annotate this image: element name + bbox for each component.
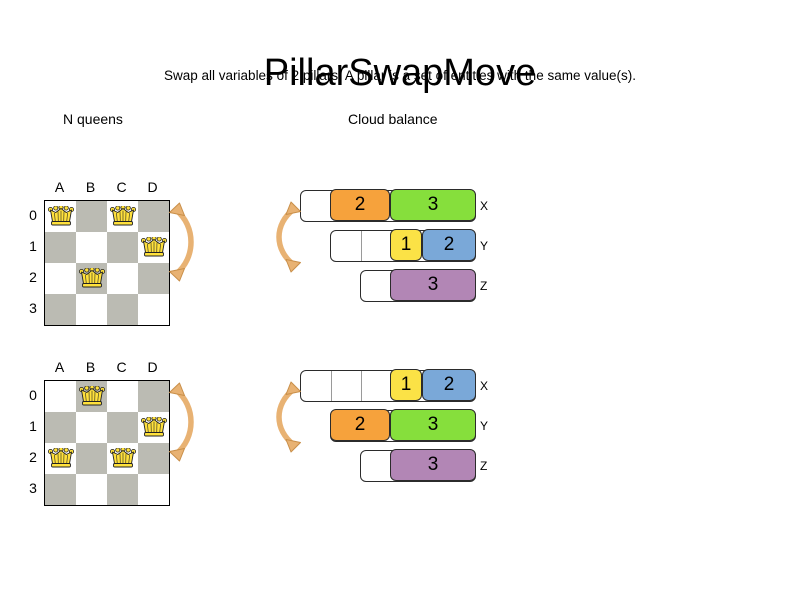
cloud-process-value: 3 [428, 275, 439, 294]
chess-board-grid [44, 380, 170, 506]
cloud-process-segment[interactable]: 1 [390, 369, 422, 401]
row-header-1: 1 [24, 231, 42, 262]
board-cell-A2[interactable] [45, 263, 76, 294]
cloud-process-segment[interactable]: 1 [390, 229, 422, 261]
board-cell-A1[interactable] [45, 232, 76, 263]
row-header-0: 0 [24, 380, 42, 411]
board-cell-C1[interactable] [107, 412, 138, 443]
cloud-process-segment[interactable]: 2 [330, 189, 390, 221]
cloud-bar-divider [361, 371, 362, 401]
cloud-process-segment[interactable]: 3 [390, 189, 476, 221]
cloud-process-value: 1 [401, 375, 412, 394]
row-header-1: 1 [24, 411, 42, 442]
queen-icon [79, 268, 105, 290]
board-cell-C1[interactable] [107, 232, 138, 263]
queen-icon [48, 206, 74, 228]
queen-icon [110, 206, 136, 228]
cloud-process-segment[interactable]: 3 [390, 409, 476, 441]
column-header-a: A [44, 358, 75, 376]
column-header-b: B [75, 358, 106, 376]
board-cell-B2[interactable] [76, 443, 107, 474]
cloud-bar-divider [331, 371, 332, 401]
column-header-c: C [106, 178, 137, 196]
swap-arrow-board-before [166, 196, 202, 288]
column-header-d: D [137, 178, 168, 196]
row-header-0: 0 [24, 200, 42, 231]
queen-icon [110, 448, 136, 470]
board-column-headers: ABCD [44, 178, 168, 198]
board-cell-A2[interactable] [45, 443, 76, 474]
cloud-computer-label-x: X [480, 377, 500, 395]
board-cell-D2[interactable] [138, 443, 169, 474]
cloud-computer-label-z: Z [480, 277, 500, 295]
queen-icon [79, 386, 105, 408]
column-header-b: B [75, 178, 106, 196]
cloud-bar-row-y: 12Y [276, 230, 506, 262]
cloud-process-value: 2 [355, 195, 366, 214]
cloud-process-segment[interactable]: 2 [422, 229, 476, 261]
queen-icon [48, 448, 74, 470]
section-heading-nqueens: N queens [63, 110, 123, 128]
row-header-2: 2 [24, 442, 42, 473]
board-row-headers: 0123 [24, 380, 42, 504]
board-cell-B1[interactable] [76, 412, 107, 443]
cloud-process-value: 3 [428, 195, 439, 214]
cloud-computer-label-y: Y [480, 237, 500, 255]
swap-arrow-cloud-after [268, 376, 304, 456]
cloud-computer-label-x: X [480, 197, 500, 215]
cloud-process-value: 3 [428, 415, 439, 434]
swap-arrow-board-after [166, 376, 202, 468]
chess-board-grid [44, 200, 170, 326]
board-cell-D1[interactable] [138, 412, 169, 443]
queen-icon [141, 237, 167, 259]
column-header-c: C [106, 358, 137, 376]
board-column-headers: ABCD [44, 358, 168, 378]
board-cell-D2[interactable] [138, 263, 169, 294]
board-cell-A1[interactable] [45, 412, 76, 443]
board-cell-D1[interactable] [138, 232, 169, 263]
board-cell-A3[interactable] [45, 474, 76, 505]
cloud-process-value: 3 [428, 455, 439, 474]
cloud-computer-label-z: Z [480, 457, 500, 475]
board-cell-C3[interactable] [107, 474, 138, 505]
board-cell-A0[interactable] [45, 381, 76, 412]
cloud-bar-row-y: 23Y [276, 410, 506, 442]
board-cell-B1[interactable] [76, 232, 107, 263]
page-subtitle: Swap all variables of 2 pillars. A pilla… [0, 68, 800, 84]
board-cell-C3[interactable] [107, 294, 138, 325]
board-row-headers: 0123 [24, 200, 42, 324]
cloud-bar-row-z: 3Z [276, 450, 506, 482]
board-cell-C2[interactable] [107, 263, 138, 294]
cloud-bar-row-z: 3Z [276, 270, 506, 302]
board-cell-B2[interactable] [76, 263, 107, 294]
board-cell-D3[interactable] [138, 294, 169, 325]
board-cell-B3[interactable] [76, 474, 107, 505]
cloud-process-value: 2 [444, 375, 455, 394]
cloud-process-segment[interactable]: 2 [330, 409, 390, 441]
row-header-3: 3 [24, 473, 42, 504]
board-cell-B3[interactable] [76, 294, 107, 325]
column-header-a: A [44, 178, 75, 196]
board-cell-C2[interactable] [107, 443, 138, 474]
queen-icon [141, 417, 167, 439]
column-header-d: D [137, 358, 168, 376]
board-cell-D0[interactable] [138, 381, 169, 412]
cloud-bar-row-x: 12X [276, 370, 506, 402]
board-cell-D3[interactable] [138, 474, 169, 505]
cloud-process-segment[interactable]: 3 [390, 449, 476, 481]
board-cell-A3[interactable] [45, 294, 76, 325]
board-cell-A0[interactable] [45, 201, 76, 232]
section-heading-cloud: Cloud balance [348, 110, 438, 128]
cloud-process-segment[interactable]: 3 [390, 269, 476, 301]
cloud-bar-row-x: 23X [276, 190, 506, 222]
board-cell-B0[interactable] [76, 381, 107, 412]
cloud-process-value: 2 [355, 415, 366, 434]
cloud-process-segment[interactable]: 2 [422, 369, 476, 401]
cloud-process-value: 2 [444, 235, 455, 254]
cloud-bar-divider [361, 231, 362, 261]
board-cell-C0[interactable] [107, 381, 138, 412]
swap-arrow-cloud-before [268, 196, 304, 276]
row-header-3: 3 [24, 293, 42, 324]
cloud-process-value: 1 [401, 235, 412, 254]
board-cell-C0[interactable] [107, 201, 138, 232]
board-cell-B0[interactable] [76, 201, 107, 232]
diagram-canvas: PillarSwapMove Swap all variables of 2 p… [0, 0, 800, 600]
cloud-computer-label-y: Y [480, 417, 500, 435]
board-cell-D0[interactable] [138, 201, 169, 232]
row-header-2: 2 [24, 262, 42, 293]
